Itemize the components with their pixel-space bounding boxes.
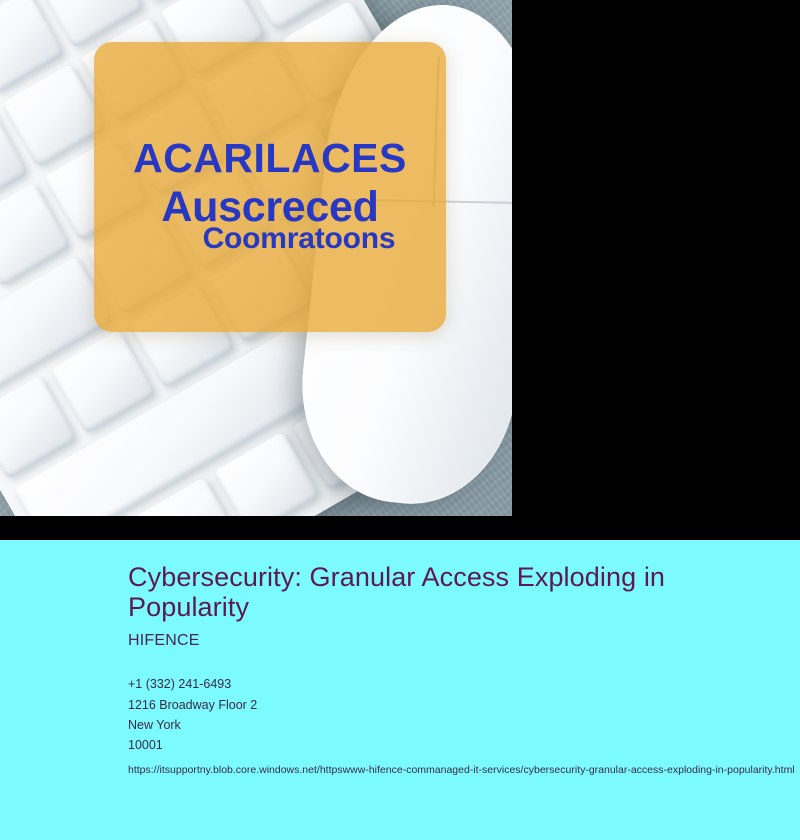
overlay-line-1: ACARILACES (94, 138, 446, 180)
source-url[interactable]: https://itsupportny.blob.core.windows.ne… (128, 760, 800, 780)
hero-band: ACARILACES Auscreced Coomratoons (0, 0, 800, 540)
contact-block: +1 (332) 241-6493 1216 Broadway Floor 2 … (128, 674, 800, 755)
contact-city: New York (128, 715, 800, 735)
info-panel-content: Cybersecurity: Granular Access Exploding… (0, 540, 800, 781)
contact-zip: 10001 (128, 735, 800, 755)
contact-phone: +1 (332) 241-6493 (128, 674, 800, 694)
overlay-card-text: ACARILACES Auscreced Coomratoons (94, 138, 446, 254)
brand-name: HIFENCE (128, 632, 800, 650)
overlay-line-3: Coomratoons (94, 224, 446, 255)
page-title: Cybersecurity: Granular Access Exploding… (128, 562, 768, 622)
overlay-card: ACARILACES Auscreced Coomratoons (94, 42, 446, 332)
hero-photo: ACARILACES Auscreced Coomratoons (0, 0, 512, 516)
contact-street: 1216 Broadway Floor 2 (128, 695, 800, 715)
info-panel: Cybersecurity: Granular Access Exploding… (0, 540, 800, 840)
